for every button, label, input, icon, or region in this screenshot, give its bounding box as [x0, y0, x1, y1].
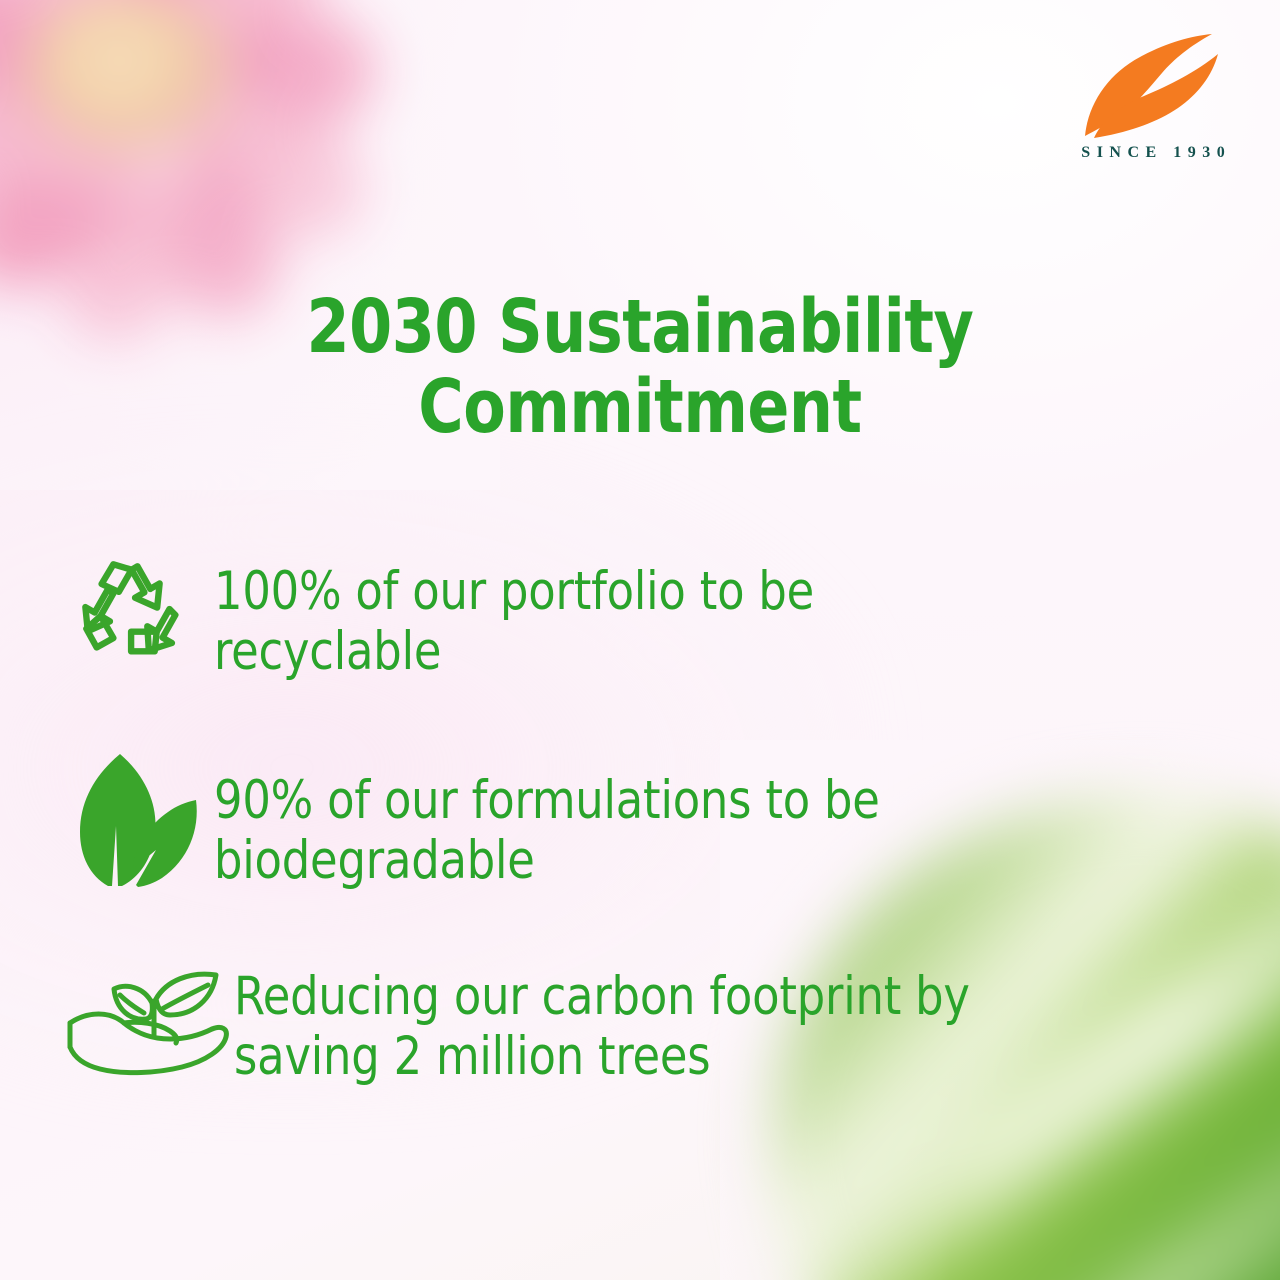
page-title: 2030 Sustainability Commitment: [222, 288, 1059, 448]
leaves-icon-wrap: [64, 745, 214, 895]
sustainability-infographic: SINCE 1930 2030 Sustainability Commitmen…: [0, 0, 1280, 1280]
hand-seedling-icon: [66, 961, 234, 1083]
list-item-label: 100% of our portfolio to be recyclable: [214, 548, 1022, 683]
hand-seedling-icon-wrap: [64, 957, 234, 1087]
list-item: 100% of our portfolio to be recyclable: [64, 548, 1074, 683]
list-item: Reducing our carbon footprint by saving …: [64, 957, 1074, 1088]
list-item-label: 90% of our formulations to be biodegrada…: [214, 745, 1022, 892]
recycle-icon-wrap: [64, 548, 214, 678]
list-item-label: Reducing our carbon footprint by saving …: [234, 957, 1024, 1088]
flame-swoosh-logo-icon: [1078, 32, 1228, 140]
brand-logo: SINCE 1930: [1068, 32, 1238, 162]
recycle-icon: [78, 554, 196, 672]
leaves-icon: [78, 752, 202, 888]
list-item: 90% of our formulations to be biodegrada…: [64, 745, 1074, 895]
since-text: SINCE 1930: [1068, 144, 1238, 162]
commitments-list: 100% of our portfolio to be recyclable 9…: [64, 548, 1074, 1088]
